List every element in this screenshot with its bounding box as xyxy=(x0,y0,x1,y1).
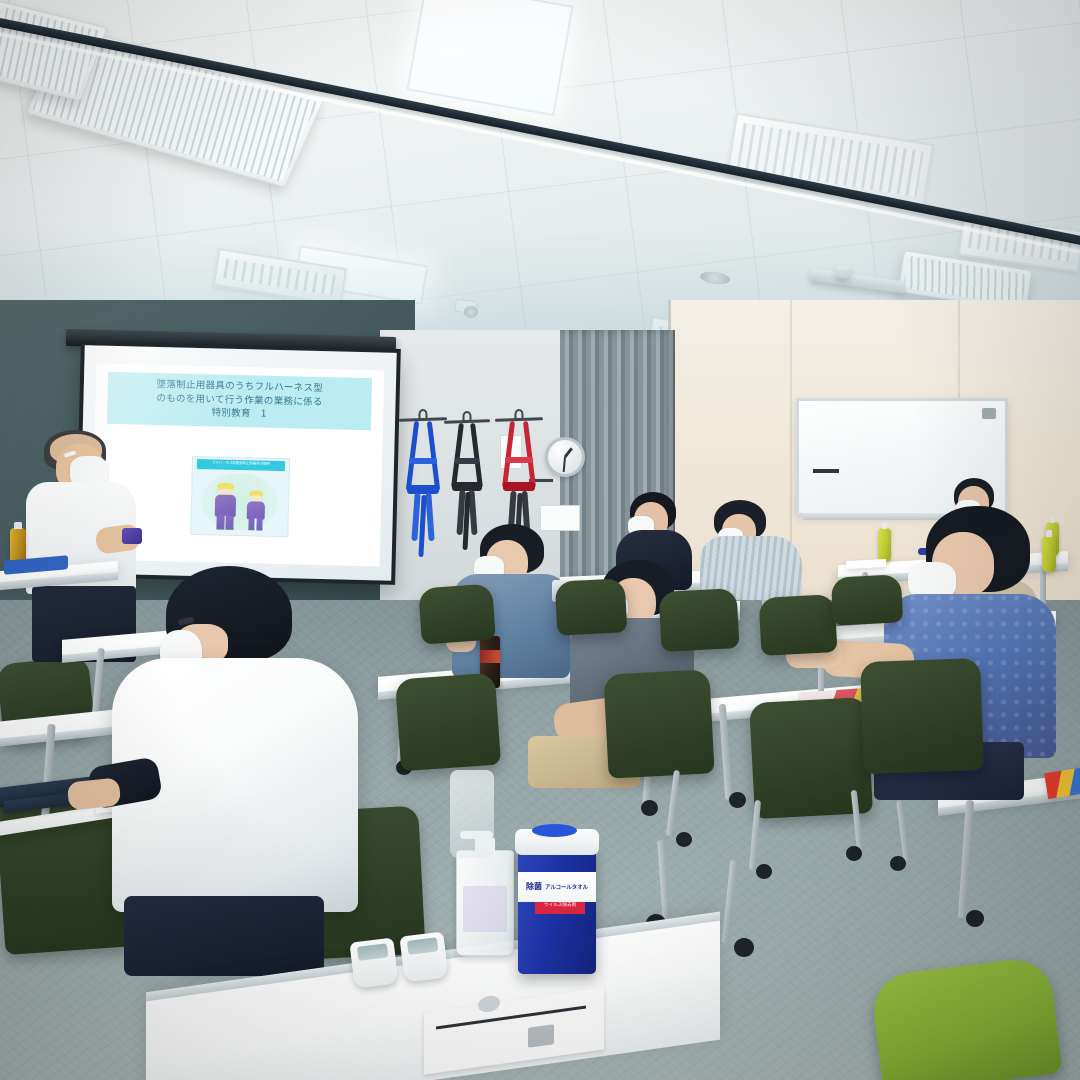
harness-chest-strap xyxy=(409,458,436,464)
presentation-remote xyxy=(122,528,142,544)
chair xyxy=(555,578,628,636)
worker-legs xyxy=(249,518,263,531)
wipes-label-red-band: ウイルス除去剤 xyxy=(535,902,585,914)
worker-body xyxy=(215,494,236,516)
slide-worker-figure-right xyxy=(245,490,267,530)
attendee-back-right xyxy=(700,500,804,598)
paper-logo-mark xyxy=(528,1024,554,1048)
sanitizer-label xyxy=(463,886,508,932)
chair-caster xyxy=(756,864,772,879)
table-caster xyxy=(729,792,746,808)
table-caster xyxy=(734,938,754,957)
plastic-bag xyxy=(450,770,494,858)
thermometer-display xyxy=(357,943,388,960)
whiteboard-magnet xyxy=(982,408,996,419)
wipes-label-band: 除菌 アルコールタオル xyxy=(518,872,596,903)
chair-caster xyxy=(846,846,862,861)
harness-hanger-black xyxy=(444,420,490,434)
harness-shoulder-strap xyxy=(427,421,440,491)
worker-body xyxy=(247,501,265,520)
trousers xyxy=(124,896,324,976)
chair xyxy=(831,574,903,626)
green-tea-bottle xyxy=(1042,536,1056,572)
harness-shoulder-strap xyxy=(452,423,465,488)
harness-waist-belt xyxy=(452,482,482,491)
hand-sanitizer-pump-bottle xyxy=(456,850,514,956)
thermometer-display xyxy=(407,937,438,954)
attendee-front-left xyxy=(104,566,374,966)
chair-caster xyxy=(890,856,906,871)
harness-chest-strap xyxy=(455,458,479,464)
chair xyxy=(759,594,838,656)
chair xyxy=(860,658,984,774)
course-booklet xyxy=(1044,767,1080,799)
black-full-body-harness xyxy=(449,423,485,535)
blue-full-body-harness xyxy=(403,421,443,541)
slide-title: 墜落制止用器具のうちフルハーネス型 のものを用いて行う作業の業務に係る 特別教育… xyxy=(106,372,372,431)
chair xyxy=(418,583,496,644)
clock-minute-hand xyxy=(563,457,566,472)
harness-shoulder-strap xyxy=(406,421,419,491)
harness-hanger-red xyxy=(495,418,543,432)
harness-shoulder-strap xyxy=(523,421,536,488)
harness-waist-belt xyxy=(503,482,536,491)
accent-chair xyxy=(869,955,1062,1080)
red-full-body-harness xyxy=(499,421,539,537)
chair xyxy=(395,673,501,772)
table-caster xyxy=(966,910,984,927)
harness-chest-strap xyxy=(505,457,532,463)
slide-illustration: フルハーネス型墜落制止用器具の使用 xyxy=(190,456,290,537)
alcohol-wipes-container[interactable]: 除菌 アルコールタオル ウイルス除去剤 xyxy=(518,846,596,974)
slide-illustration-caption: フルハーネス型墜落制止用器具の使用 xyxy=(197,459,285,471)
slide-worker-figure-left xyxy=(212,482,238,530)
wall-clock xyxy=(545,437,585,477)
chair-caster xyxy=(676,832,692,847)
forehead-thermometer-left[interactable] xyxy=(349,937,398,988)
chair xyxy=(603,669,714,778)
wipes-label-main: 除菌 xyxy=(526,881,542,892)
harness-shoulder-strap xyxy=(470,423,483,488)
table-caster xyxy=(641,800,658,816)
chair xyxy=(658,588,739,652)
harness-waist-belt xyxy=(407,485,440,494)
worker-legs xyxy=(217,515,234,530)
harness-hanger-blue xyxy=(399,418,447,432)
classroom-photo: 墜落制止用器具のうちフルハーネス型 のものを用いて行う作業の業務に係る 特別教育… xyxy=(0,0,1080,1080)
whiteboard-marker xyxy=(813,469,839,473)
forehead-thermometer-right[interactable] xyxy=(399,931,448,982)
harness-shoulder-strap xyxy=(502,421,515,488)
wipes-label-sub: アルコールタオル xyxy=(545,883,588,891)
